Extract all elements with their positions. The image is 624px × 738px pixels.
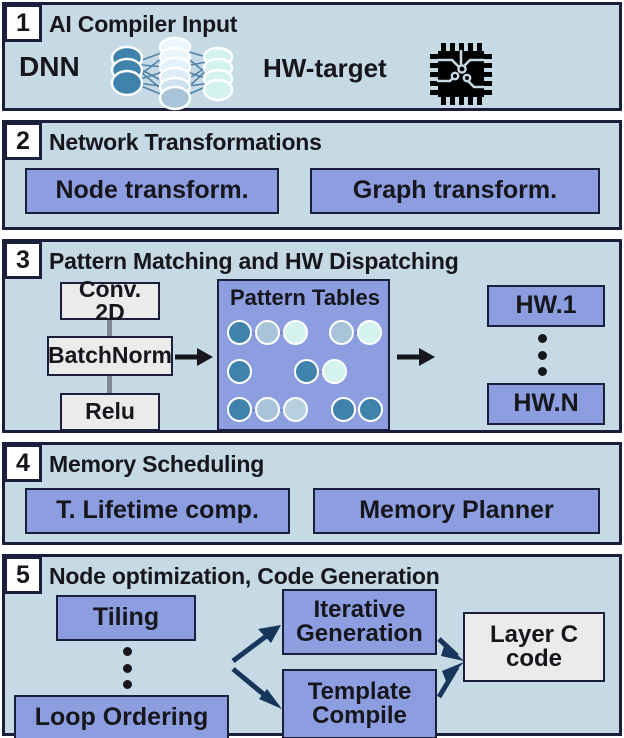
hw-ellipsis-dots: [537, 334, 547, 376]
conv2d-box[interactable]: Conv. 2D: [60, 282, 160, 320]
pattern-node: [294, 359, 319, 384]
stage-2-number: 2: [4, 122, 42, 160]
tensor-lifetime-box[interactable]: T. Lifetime comp.: [25, 488, 290, 534]
stage5-arrows: [5, 557, 624, 738]
stage-5: 5 Node optimization, Code Generation Til…: [2, 554, 622, 736]
stage-4: 4 Memory Scheduling T. Lifetime comp. Me…: [2, 442, 622, 545]
arrow-ops-to-patterns: [175, 346, 217, 368]
pattern-node: [227, 320, 252, 345]
compiler-flow-diagram: 1 AI Compiler Input DNN: [0, 0, 624, 738]
neural-network-icon: [105, 38, 245, 112]
arrow-patterns-to-hw: [397, 346, 439, 368]
stage-5-number: 5: [4, 556, 42, 594]
pattern-node: [358, 397, 383, 422]
stage-4-title: Memory Scheduling: [49, 447, 264, 481]
stage-1-title: AI Compiler Input: [49, 7, 237, 41]
stage-3-title: Pattern Matching and HW Dispatching: [49, 244, 459, 278]
pattern-node: [255, 320, 280, 345]
pattern-tables-label: Pattern Tables: [230, 285, 380, 311]
pattern-node: [255, 397, 280, 422]
stage-3-number: 3: [4, 241, 42, 279]
pattern-node: [331, 397, 356, 422]
pattern-node: [283, 397, 308, 422]
dnn-label: DNN: [19, 51, 80, 83]
microchip-icon: [430, 43, 492, 105]
batchnorm-box[interactable]: BatchNorm: [47, 336, 173, 376]
node-transform-box[interactable]: Node transform.: [25, 168, 279, 214]
hw-1-box[interactable]: HW.1: [487, 285, 605, 327]
pattern-node: [357, 320, 382, 345]
memory-planner-box[interactable]: Memory Planner: [313, 488, 600, 534]
pattern-node: [283, 320, 308, 345]
stage-4-number: 4: [4, 444, 42, 482]
stage-1-number: 1: [4, 4, 42, 42]
stage-2: 2 Network Transformations Node transform…: [2, 120, 622, 230]
stage-3: 3 Pattern Matching and HW Dispatching Co…: [2, 239, 622, 433]
pattern-tables-panel[interactable]: Pattern Tables: [217, 279, 390, 431]
stage-2-title: Network Transformations: [49, 125, 322, 159]
pattern-node: [227, 397, 252, 422]
hw-n-box[interactable]: HW.N: [487, 383, 605, 425]
hw-target-label: HW-target: [263, 53, 387, 84]
pattern-node: [227, 359, 252, 384]
pattern-node: [329, 320, 354, 345]
relu-box[interactable]: Relu: [60, 393, 160, 431]
graph-transform-box[interactable]: Graph transform.: [310, 168, 600, 214]
stage-1: 1 AI Compiler Input DNN: [2, 2, 622, 111]
pattern-node: [322, 359, 347, 384]
